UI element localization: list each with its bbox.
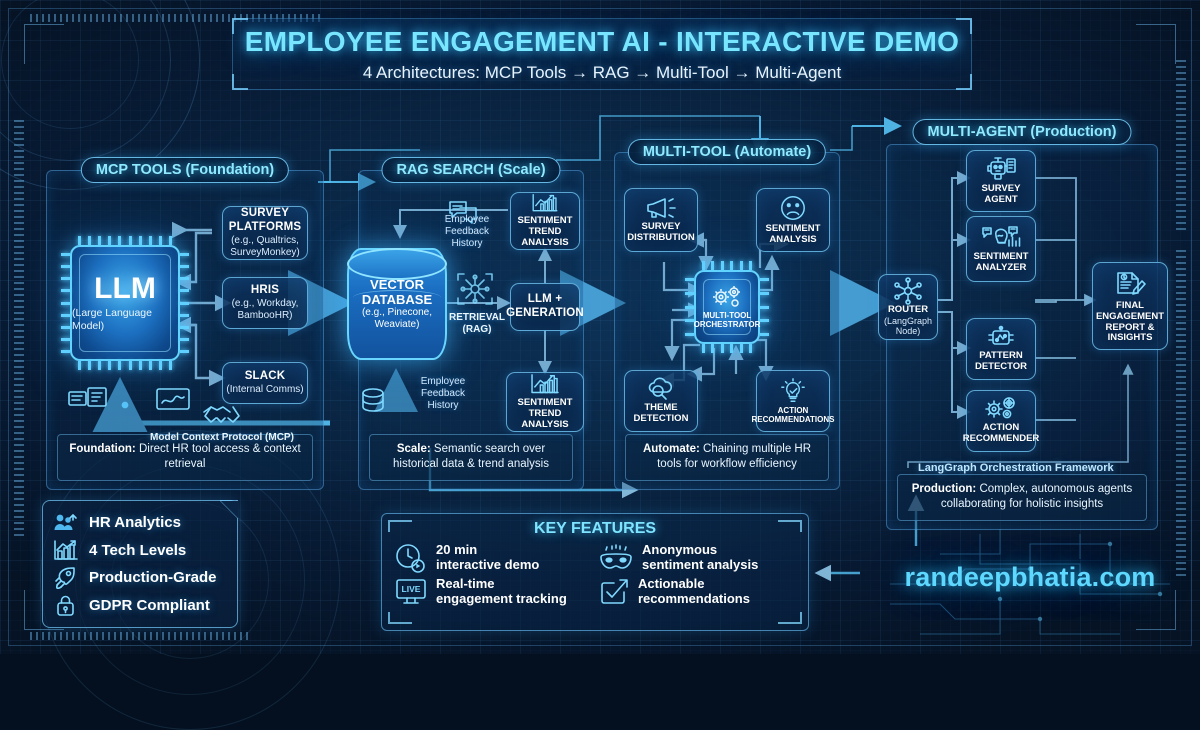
panel-footer-multiagent: Production: Complex, autonomous agents c… [897, 474, 1147, 521]
vector-db-detail: (e.g., Pinecone, Weaviate) [349, 307, 445, 330]
page-header: EMPLOYEE ENGAGEMENT AI - INTERACTIVE DEM… [232, 18, 972, 90]
key-feature-anon-line1: Anonymous [642, 543, 758, 558]
panel-footer-mcp-bold: Foundation: [69, 443, 135, 455]
tick-ruler-right-bottom [1176, 250, 1186, 580]
node-theme-detection-title: THEME DETECTION [625, 403, 697, 425]
bar-chart-up-icon [53, 539, 79, 561]
key-feature-realtime-line2: engagement tracking [436, 592, 567, 607]
node-sentiment-analysis[interactable]: SENTIMENT ANALYSIS [756, 188, 830, 252]
router-network-icon [891, 277, 925, 305]
frame-corner-br [1136, 590, 1176, 630]
svg-text:LIVE: LIVE [402, 584, 421, 594]
node-router-detail: (LangGraph Node) [879, 316, 937, 338]
frame-corner-tr [1136, 24, 1176, 64]
node-action-recommendations-title: ACTION RECOMMENDATIONS [752, 406, 835, 424]
key-feature-demo-line1: 20 min [436, 543, 539, 558]
badge-gdpr-compliant[interactable]: GDPR Compliant [53, 594, 227, 616]
panel-footer-multitool-bold: Automate: [643, 443, 700, 455]
page-title: EMPLOYEE ENGAGEMENT AI - INTERACTIVE DEM… [245, 26, 959, 58]
panel-footer-mcp-text: Direct HR tool access & context retrieva… [136, 443, 301, 471]
node-sentiment-analyzer[interactable]: SENTIMENT ANALYZER [966, 216, 1036, 282]
badge-hr-analytics-label: HR Analytics [89, 514, 181, 531]
node-router[interactable]: ROUTER (LangGraph Node) [878, 274, 938, 340]
tick-ruler-left [14, 120, 24, 540]
key-feature-action-line1: Actionable [638, 577, 750, 592]
node-survey-agent-title: SURVEY AGENT [967, 184, 1035, 206]
badge-hr-analytics[interactable]: HR Analytics [53, 512, 227, 534]
key-feature-demo-line2: interactive demo [436, 558, 539, 573]
badge-production-grade[interactable]: Production-Grade [53, 567, 227, 589]
orchestrator-label: MULTI-TOOL ORCHESTRATOR [694, 312, 761, 330]
node-multi-tool-orchestrator[interactable]: MULTI-TOOL ORCHESTRATOR [694, 270, 760, 344]
card-dogear [220, 500, 238, 518]
key-feature-action-line2: recommendations [638, 592, 750, 607]
node-llm-generation-title: LLM + GENERATION [506, 293, 584, 321]
frame-corner-tl [24, 24, 64, 64]
key-feature-anon-line2: sentiment analysis [642, 558, 758, 573]
node-hris-detail: (e.g., Workday, BambooHR) [223, 298, 307, 322]
node-action-recommender-title: ACTION RECOMMENDER [963, 423, 1040, 445]
rag-feedback-top-label: Employee Feedback History [432, 214, 502, 250]
site-domain[interactable]: randeepbhatia.com [880, 562, 1180, 593]
node-slack-title: SLACK [245, 370, 286, 384]
key-feature-anonymous[interactable]: Anonymoussentiment analysis [598, 542, 796, 574]
orch-pins-bottom [702, 344, 752, 353]
people-analytics-icon [53, 512, 79, 534]
trend-chart-icon [528, 193, 562, 213]
page-subtitle: 4 Architectures: MCP Tools → RAG → Multi… [363, 63, 841, 83]
panel-title-rag: RAG SEARCH (Scale) [381, 157, 560, 183]
node-slack-detail: (Internal Comms) [226, 384, 303, 396]
retrieval-scan-icon [455, 270, 495, 308]
key-features-title: KEY FEATURES [382, 520, 808, 538]
keyfeat-corner-tl [388, 520, 412, 532]
node-final-report[interactable]: FINAL ENGAGEMENT REPORT & INSIGHTS [1092, 262, 1168, 350]
node-llm-chip[interactable]: LLM (Large Language Model) [70, 245, 180, 361]
node-sentiment-trend-top[interactable]: SENTIMENT TREND ANALYSIS [510, 192, 580, 250]
orch-pins-right [760, 278, 769, 336]
badge-tech-levels[interactable]: 4 Tech Levels [53, 539, 227, 561]
chip-pins-left [61, 253, 70, 353]
node-llm-generation[interactable]: LLM + GENERATION [510, 283, 580, 331]
badge-production-grade-label: Production-Grade [89, 569, 217, 586]
database-small-icon [358, 386, 388, 416]
lightbulb-icon [779, 378, 807, 404]
node-pattern-detector-title: PATTERN DETECTOR [967, 351, 1035, 373]
rag-feedback-bottom-label: Employee Feedback History [408, 376, 478, 412]
badge-gdpr-compliant-label: GDPR Compliant [89, 597, 210, 614]
badge-tech-levels-label: 4 Tech Levels [89, 542, 186, 559]
robot-icon [984, 156, 1018, 182]
node-survey-agent[interactable]: SURVEY AGENT [966, 150, 1036, 212]
feature-badges-card[interactable]: HR Analytics 4 Tech Levels Production-Gr… [42, 500, 238, 628]
documents-icon [66, 384, 110, 416]
header-corner-br [956, 74, 972, 90]
mask-icon [598, 543, 634, 573]
llm-label: LLM [94, 274, 156, 304]
checkbox-arrow-icon [598, 577, 630, 607]
header-corner-tl [232, 18, 248, 34]
panel-footer-multitool: Automate: Chaining multiple HR tools for… [625, 434, 829, 481]
node-router-title: ROUTER [888, 305, 928, 316]
key-features-grid: 20 mininteractive demo Anonymoussentimen… [382, 538, 808, 608]
panel-title-multitool: MULTI-TOOL (Automate) [628, 139, 826, 165]
live-monitor-icon: LIVE [394, 576, 428, 608]
key-feature-realtime[interactable]: LIVE Real-timeengagement tracking [394, 576, 592, 608]
rag-retrieval-label: RETRIEVAL (RAG) [442, 312, 512, 336]
panel-title-mcp: MCP TOOLS (Foundation) [81, 157, 289, 183]
connector-dot-icon [118, 398, 132, 412]
gears-target-icon [983, 397, 1019, 421]
lock-icon [53, 594, 79, 616]
clock-play-icon [394, 542, 428, 574]
chip-pins-bottom [78, 361, 172, 370]
keyfeat-corner-br [778, 612, 802, 624]
report-document-icon [1112, 268, 1148, 298]
chip-pins-top [78, 236, 172, 245]
handshake-icon [200, 398, 244, 430]
panel-footer-rag: Scale: Semantic search over historical d… [369, 434, 573, 481]
rocket-icon [53, 567, 79, 589]
node-action-recommendations[interactable]: ACTION RECOMMENDATIONS [756, 370, 830, 432]
chip-pins-right [180, 253, 189, 353]
node-survey-platforms-detail: (e.g., Qualtrics, SurveyMonkey) [223, 235, 307, 259]
node-hris[interactable]: HRIS (e.g., Workday, BambooHR) [222, 277, 308, 329]
megaphone-icon [645, 196, 677, 220]
brain-icon [979, 224, 1023, 250]
signature-card-icon [155, 386, 191, 412]
node-sentiment-analysis-title: SENTIMENT ANALYSIS [757, 224, 829, 246]
sad-face-icon [778, 194, 808, 222]
orchestrator-core: MULTI-TOOL ORCHESTRATOR [694, 270, 760, 344]
node-theme-detection[interactable]: THEME DETECTION [624, 370, 698, 432]
key-feature-demo-duration[interactable]: 20 mininteractive demo [394, 542, 592, 574]
node-survey-platforms-title: SURVEY PLATFORMS [223, 207, 307, 235]
gears-icon [710, 284, 744, 310]
node-sentiment-trend-top-title: SENTIMENT TREND ANALYSIS [511, 216, 579, 249]
key-feature-actionable[interactable]: Actionablerecommendations [598, 576, 796, 608]
keyfeat-corner-tr [778, 520, 802, 532]
pattern-robot-icon [984, 325, 1018, 349]
orch-pins-top [702, 261, 752, 270]
llm-sublabel: (Large Language Model) [72, 307, 178, 331]
node-survey-distribution-title: SURVEY DISTRIBUTION [625, 222, 697, 244]
node-survey-distribution[interactable]: SURVEY DISTRIBUTION [624, 188, 698, 252]
langgraph-framework-label: LangGraph Orchestration Framework [918, 462, 1114, 474]
header-corner-tr [956, 18, 972, 34]
cloud-search-icon [645, 377, 677, 401]
tick-ruler-right-top [1176, 60, 1186, 230]
keyfeat-corner-bl [388, 612, 412, 624]
header-corner-bl [232, 74, 248, 90]
node-sentiment-trend-bottom[interactable]: SENTIMENT TREND ANALYSIS [506, 372, 584, 432]
panel-footer-rag-bold: Scale: [397, 443, 431, 455]
mcp-bus-label: Model Context Protocol (MCP) [92, 432, 352, 444]
panel-title-multiagent: MULTI-AGENT (Production) [912, 119, 1131, 145]
node-final-report-title: FINAL ENGAGEMENT REPORT & INSIGHTS [1093, 301, 1167, 345]
panel-footer-multiagent-bold: Production: [912, 483, 977, 495]
trend-chart-icon-2 [528, 373, 562, 395]
node-sentiment-trend-bottom-title: SENTIMENT TREND ANALYSIS [507, 398, 583, 431]
node-sentiment-analyzer-title: SENTIMENT ANALYZER [967, 252, 1035, 274]
node-hris-title: HRIS [251, 284, 279, 298]
key-feature-realtime-line1: Real-time [436, 577, 567, 592]
node-survey-platforms[interactable]: SURVEY PLATFORMS (e.g., Qualtrics, Surve… [222, 206, 308, 260]
node-pattern-detector[interactable]: PATTERN DETECTOR [966, 318, 1036, 380]
node-action-recommender[interactable]: ACTION RECOMMENDER [966, 390, 1036, 452]
key-features-panel[interactable]: KEY FEATURES 20 mininteractive demo Anon… [381, 513, 809, 631]
orch-pins-left [685, 278, 694, 336]
llm-chip-core: LLM (Large Language Model) [70, 245, 180, 361]
node-vector-database[interactable]: VECTOR DATABASE (e.g., Pinecone, Weaviat… [347, 248, 447, 360]
vector-db-title: VECTOR DATABASE [349, 278, 445, 308]
